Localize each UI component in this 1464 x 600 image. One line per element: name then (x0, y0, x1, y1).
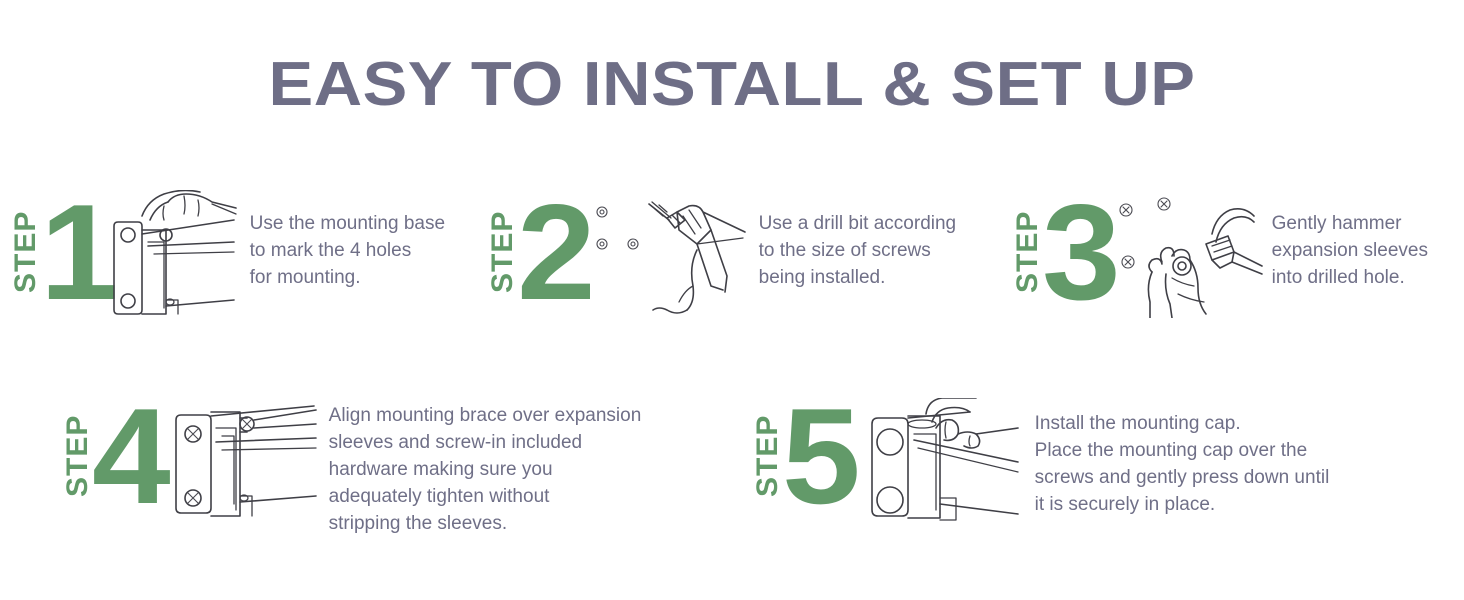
step-number-4: 4 (92, 400, 167, 512)
step-description-3: Gently hammer expansion sleeves into dri… (1272, 210, 1464, 291)
step-number-2: 2 (517, 196, 592, 308)
step-item-1: STEP 1 Use (10, 196, 490, 318)
mounting-brace-with-screwdriver-and-screws-icon (164, 398, 319, 526)
step-label-5: STEP (752, 400, 784, 512)
step-number-5: 5 (782, 400, 857, 512)
step-item-3: STEP 3 (1012, 196, 1464, 318)
step-label-4: STEP (62, 400, 94, 512)
step-label-2: STEP (487, 196, 519, 308)
mounting-cap-pressed-by-hand-icon (858, 398, 1023, 526)
power-drill-with-bit-and-drilled-holes-icon (593, 190, 753, 318)
step-label-1: STEP (10, 196, 42, 308)
step-item-2: STEP 2 (487, 196, 999, 318)
step-description-5: Install the mounting cap. Place the moun… (1035, 410, 1405, 518)
hammer-and-hand-inserting-expansion-sleeve-icon (1116, 190, 1266, 318)
step-description-2: Use a drill bit according to the size of… (759, 210, 999, 291)
step-item-4: STEP 4 (62, 400, 714, 537)
step-number-1: 1 (40, 196, 115, 308)
step-item-5: STEP 5 Ins (752, 400, 1405, 526)
step-description-1: Use the mounting base to mark the 4 hole… (250, 210, 490, 291)
step-description-4: Align mounting brace over expansion slee… (329, 402, 714, 537)
step-number-3: 3 (1042, 196, 1117, 308)
step-label-3: STEP (1012, 196, 1044, 308)
page-title: EASY TO INSTALL & SET UP (0, 54, 1464, 116)
mounting-base-with-hand-marking-holes-icon (108, 190, 238, 318)
